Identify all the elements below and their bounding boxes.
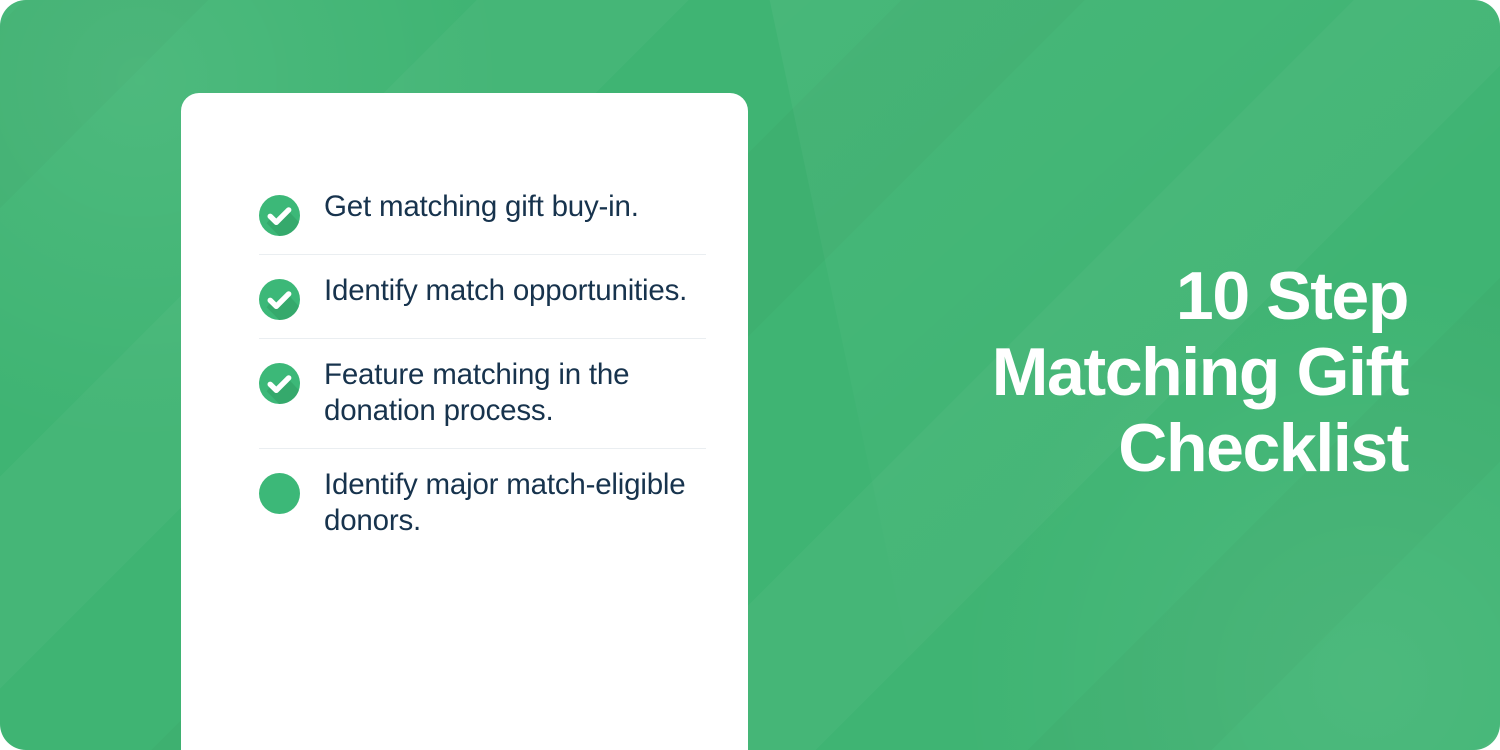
checklist-card: Get matching gift buy-in. Identify match… bbox=[181, 93, 748, 750]
list-item[interactable]: Get matching gift buy-in. bbox=[259, 171, 706, 254]
check-circle-icon bbox=[259, 195, 300, 236]
poster-canvas: Get matching gift buy-in. Identify match… bbox=[0, 0, 1500, 750]
checklist: Get matching gift buy-in. Identify match… bbox=[181, 171, 748, 557]
check-circle-icon bbox=[259, 363, 300, 404]
list-item[interactable]: Identify major match-eligible donors. bbox=[259, 448, 706, 558]
list-item[interactable]: Feature matching in the donation process… bbox=[259, 338, 706, 448]
page-title-line-2: Matching Gift bbox=[768, 334, 1408, 410]
list-item-label: Identify major match-eligible donors. bbox=[324, 465, 696, 540]
list-item-label: Feature matching in the donation process… bbox=[324, 355, 696, 430]
list-item-label: Identify match opportunities. bbox=[324, 271, 687, 309]
page-title: 10 Step Matching Gift Checklist bbox=[768, 258, 1408, 486]
list-item-label: Get matching gift buy-in. bbox=[324, 187, 639, 225]
filled-circle-icon bbox=[259, 473, 300, 514]
page-title-line-3: Checklist bbox=[768, 410, 1408, 486]
list-item[interactable]: Identify match opportunities. bbox=[259, 254, 706, 338]
page-title-line-1: 10 Step bbox=[768, 258, 1408, 334]
check-circle-icon bbox=[259, 279, 300, 320]
